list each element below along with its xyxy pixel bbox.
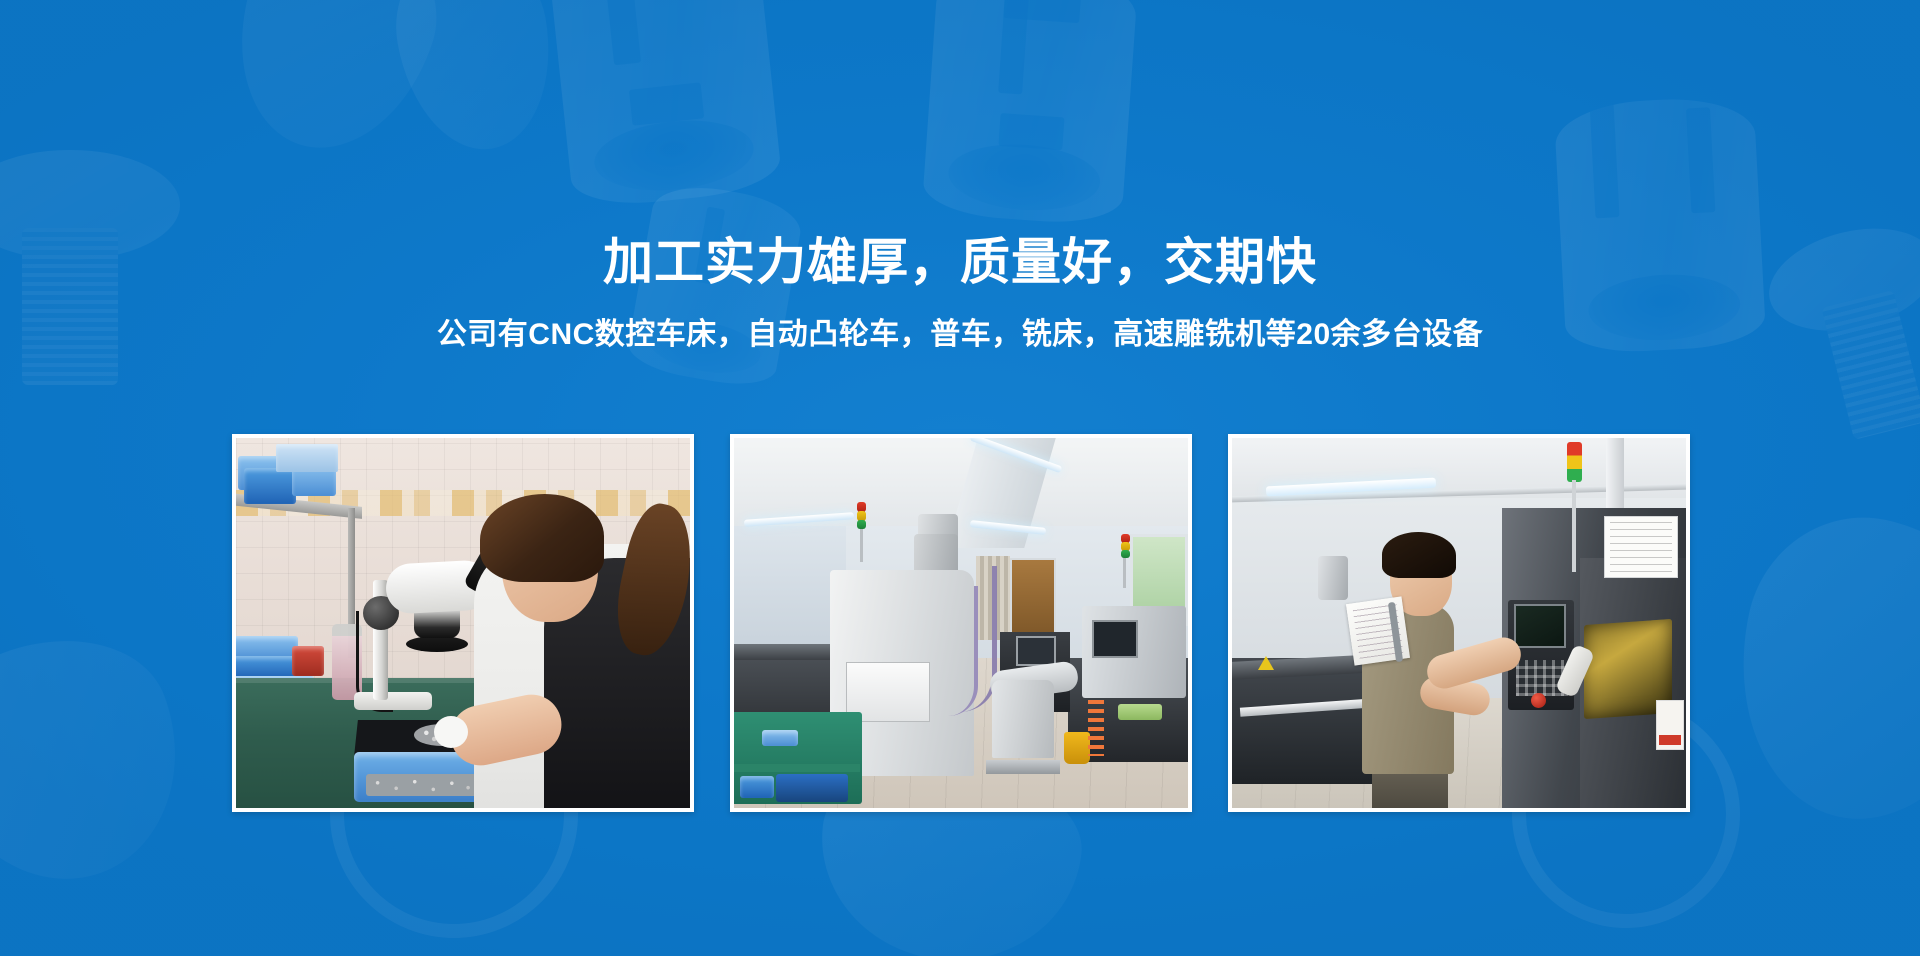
- p2-cart-bin: [740, 776, 774, 798]
- p2-cart-tools: [776, 774, 848, 802]
- p2-cnc-right-screen: [1092, 620, 1138, 658]
- p3-operator-hair: [1382, 532, 1456, 578]
- p2-cnc-middle-screen: [1016, 636, 1056, 666]
- p2-signal-pole: [1123, 554, 1126, 588]
- photo-frame-microscope-inspection[interactable]: [232, 434, 694, 812]
- photo-frame-cnc-workshop[interactable]: [730, 434, 1192, 812]
- photo-cnc-workshop: [734, 438, 1188, 808]
- page-subtitle: 公司有CNC数控车床，自动凸轮车，普车，铣床，高速雕铣机等20余多台设备: [0, 293, 1920, 354]
- page-title: 加工实力雄厚，质量好，交期快: [0, 232, 1920, 293]
- p2-cart-bin: [762, 730, 798, 746]
- watermark-part-right-edge: [1712, 496, 1920, 844]
- watermark-part-top-mid: [384, 0, 566, 162]
- p2-tool-cart-shelf: [734, 764, 860, 772]
- p2-green-tray: [1118, 704, 1162, 720]
- watermark-cylinder-1: [547, 0, 783, 210]
- p3-wall-chart: [1604, 516, 1678, 578]
- p1-microscope-base: [354, 692, 432, 710]
- p3-signal-tower-pole: [1572, 480, 1576, 572]
- photo-operator-panel: [1232, 438, 1686, 808]
- p1-microscope-stage: [406, 636, 468, 652]
- p3-emergency-stop-button: [1531, 693, 1546, 708]
- p1-worker-hair: [480, 494, 604, 582]
- p1-shelf-paper: [276, 444, 338, 472]
- p3-safety-label: [1656, 700, 1684, 750]
- p2-yellow-bucket: [1064, 732, 1090, 764]
- p3-signal-tower: [1567, 442, 1582, 482]
- heading-block: 加工实力雄厚，质量好，交期快 公司有CNC数控车床，自动凸轮车，普车，铣床，高速…: [0, 232, 1920, 354]
- photo-frame-operator-panel[interactable]: [1228, 434, 1690, 812]
- p1-stacked-bin-red: [292, 646, 324, 676]
- capability-banner: 加工实力雄厚，质量好，交期快 公司有CNC数控车床，自动凸轮车，普车，铣床，高速…: [0, 0, 1920, 956]
- photo-gallery: [232, 434, 1690, 812]
- p1-shelf-bin: [244, 468, 296, 504]
- photo-microscope-inspection: [236, 438, 690, 808]
- p2-signal-green: [857, 520, 866, 529]
- p3-extraction-duct: [1318, 556, 1348, 600]
- p2-lathe-left-top: [734, 644, 844, 660]
- p2-hydraulic-hose: [948, 586, 978, 716]
- watermark-part-bottom-left: [0, 606, 214, 914]
- watermark-cylinder-2: [922, 0, 1139, 227]
- p3-control-screen: [1514, 604, 1566, 648]
- p1-tray-parts: [366, 774, 482, 796]
- p2-conveyor-column: [992, 680, 1054, 758]
- p3-operator: [1360, 530, 1470, 808]
- p1-worker-glove: [434, 716, 468, 748]
- p2-signal-green: [1121, 550, 1130, 558]
- p2-air-hose-coil: [1088, 700, 1104, 756]
- watermark-part-top-left: [209, 0, 461, 174]
- p3-warning-triangle-icon: [1258, 656, 1274, 670]
- p2-conveyor-base: [986, 760, 1060, 774]
